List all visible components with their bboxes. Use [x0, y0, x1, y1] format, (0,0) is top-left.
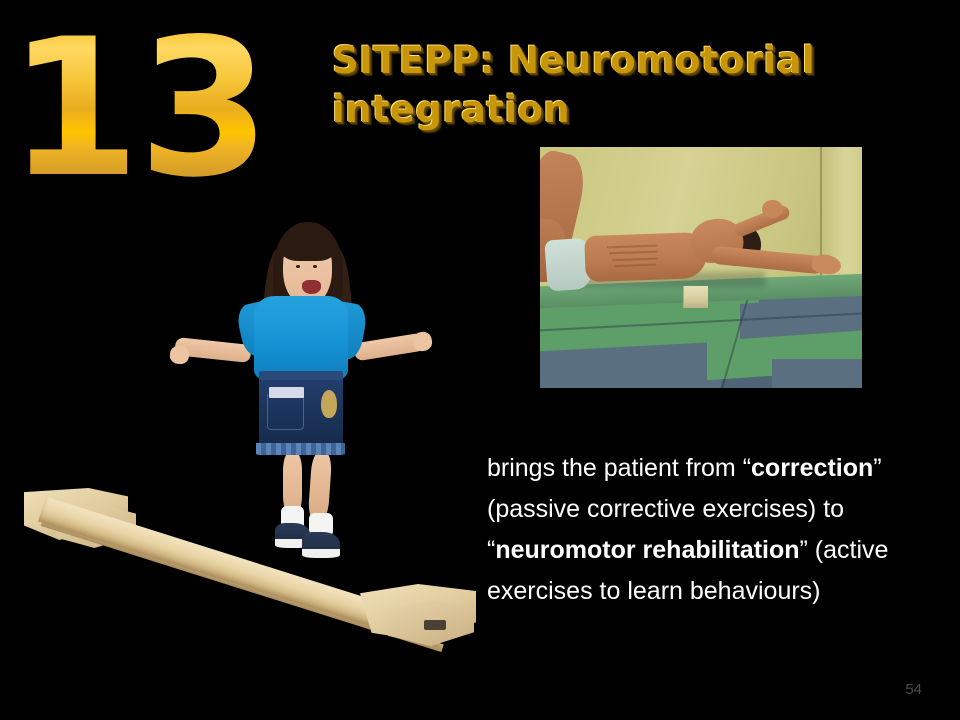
page-title: SITEPP: Neuromotorial integration	[332, 36, 912, 134]
girl-skirt-pocket	[267, 394, 304, 430]
wooden-block-prop	[683, 286, 708, 309]
presentation-slide: 13 SITEPP: Neuromotorial integration	[0, 0, 960, 720]
slide-number-badge: 13	[8, 14, 268, 204]
girl-skirt-label	[269, 387, 304, 398]
mat-tile-blue-3	[772, 359, 862, 388]
person-torso	[584, 232, 708, 282]
girl-tshirt	[254, 296, 349, 380]
page-number: 54	[905, 681, 922, 698]
body-segment-1: brings the patient from “	[487, 454, 751, 482]
image-balance-beam	[20, 478, 480, 658]
girl-hand-left	[169, 345, 190, 364]
girl-bangs	[281, 229, 335, 261]
girl-skirt-patch	[321, 390, 337, 418]
body-bold-neuromotor-rehabilitation: neuromotor rehabilitation	[495, 536, 799, 564]
girl-skirt-hem	[256, 443, 345, 456]
girl-mouth	[302, 280, 321, 294]
body-bold-correction: correction	[751, 454, 873, 482]
girl-skirt-waistband	[259, 371, 343, 380]
photo-supine-exercise	[540, 147, 862, 388]
beam-metal-bracket	[424, 620, 446, 630]
body-paragraph: brings the patient from “correction” (pa…	[487, 448, 917, 612]
